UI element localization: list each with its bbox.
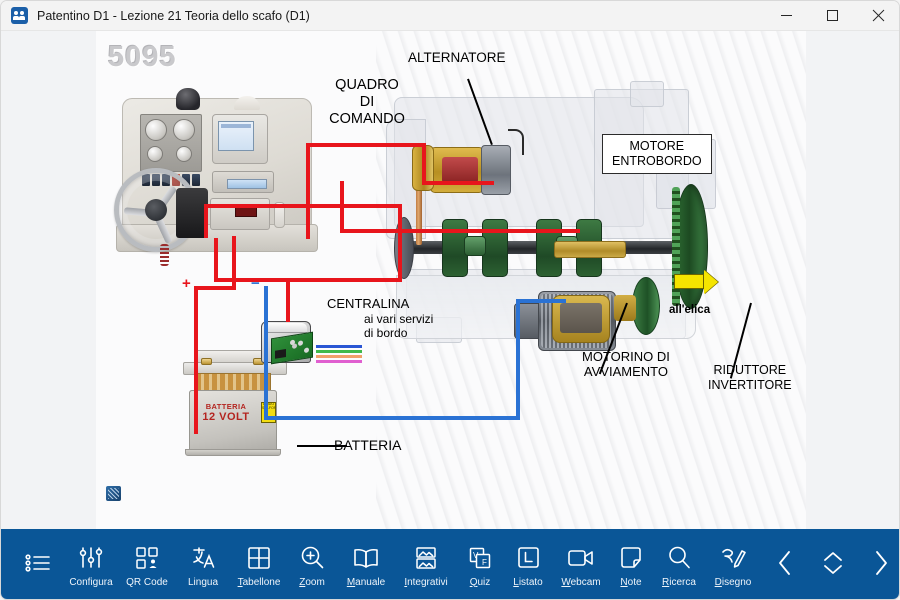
label-riduttore-invertitore: RIDUTTORE INVERTITORE: [708, 363, 792, 393]
label-alternatore: ALTERNATORE: [408, 50, 506, 66]
service-wire-blue: [316, 345, 362, 348]
images-icon: [415, 543, 437, 573]
qrcode-icon: [136, 543, 158, 573]
wire-positive-bus-v3: [204, 204, 208, 238]
wire-positive-to-console: [194, 286, 236, 290]
terminal-positive-sign: +: [182, 276, 191, 291]
battery-brand-label: BATTERIA: [195, 402, 257, 411]
wire-negative-battery-riser: [264, 286, 268, 420]
book-icon: [353, 543, 379, 573]
minimize-icon[interactable]: [763, 1, 809, 31]
propeller-direction-arrow-icon: [674, 274, 704, 289]
wire-negative-to-starter: [516, 299, 566, 303]
label-quadro-di-comando: QUADRO DI COMANDO: [322, 77, 412, 128]
quiz-label: Quiz: [470, 577, 491, 588]
window-controls: [763, 1, 900, 31]
manuale-button[interactable]: Manuale: [337, 535, 395, 595]
slide-diagram: 5095: [96, 31, 806, 529]
list-icon: [25, 548, 51, 578]
wire-positive-eng-v1: [340, 181, 344, 233]
disegno-button[interactable]: Disegno: [705, 535, 761, 595]
window-title: Patentino D1 - Lezione 21 Teoria dello s…: [37, 9, 310, 23]
label-batteria: BATTERIA: [334, 437, 401, 454]
wire-positive-eng-h1: [340, 229, 580, 233]
chevron-left-icon: [774, 548, 796, 578]
next-button[interactable]: [857, 535, 900, 595]
inboard-engine-illustration: [386, 79, 726, 369]
contacts-icon: [11, 7, 28, 24]
webcam-button[interactable]: Webcam: [553, 535, 609, 595]
wire-positive-alt-v1: [306, 143, 310, 239]
service-wire-magenta: [316, 360, 362, 363]
close-icon[interactable]: [855, 1, 900, 31]
wire-negative-riser-2: [516, 299, 520, 420]
listing-icon: [518, 543, 539, 573]
webcam-icon: [568, 543, 594, 573]
battery-face-text: BATTERIA 12 VOLT: [195, 402, 257, 425]
cards-icon: V F: [469, 543, 491, 573]
wire-negative-run: [264, 416, 520, 420]
wire-positive-alt-h2: [422, 181, 494, 185]
updown-button[interactable]: [809, 535, 857, 595]
quiz-button[interactable]: V F Quiz: [457, 535, 503, 595]
maximize-icon[interactable]: [809, 1, 855, 31]
label-motore-entrobordo: MOTORE ENTROBORDO: [602, 134, 712, 174]
battery-voltage-label: 12 VOLT: [195, 411, 257, 425]
lesson-content-area: 5095: [1, 31, 900, 529]
zoom-label: Zoom: [299, 577, 325, 588]
zoom-button[interactable]: Zoom: [287, 535, 337, 595]
integrativi-label: Integrativi: [404, 577, 447, 588]
previous-button[interactable]: [761, 535, 809, 595]
tabellone-button[interactable]: Tabellone: [231, 535, 287, 595]
grid-icon: [248, 543, 270, 573]
application-window: Patentino D1 - Lezione 21 Teoria dello s…: [0, 0, 900, 600]
service-wire-orange: [316, 355, 362, 358]
label-centralina: CENTRALINA: [327, 296, 409, 311]
wire-positive-bus-h1: [214, 278, 402, 282]
ricerca-button[interactable]: Ricerca: [653, 535, 705, 595]
service-wire-green: [316, 350, 362, 353]
note-icon: [621, 543, 641, 573]
note-button[interactable]: Note: [609, 535, 653, 595]
wire-positive-battery-riser: [194, 286, 198, 434]
wire-positive-alt-v2: [422, 143, 426, 185]
chevron-right-icon: [870, 548, 892, 578]
qrcode-button[interactable]: QR Code: [119, 535, 175, 595]
manuale-label: Manuale: [347, 577, 385, 588]
chevron-updown-icon: [821, 548, 845, 578]
flywheel-part: [674, 184, 708, 309]
listato-label: Listato: [513, 577, 542, 588]
webcam-label: Webcam: [561, 577, 600, 588]
compass-icon: [176, 88, 200, 110]
disegno-label: Disegno: [715, 577, 752, 588]
configura-label: Configura: [69, 577, 112, 588]
draw-icon: [721, 543, 745, 573]
label-servizi-di-bordo: ai vari servizi di bordo: [364, 312, 433, 340]
wire-positive-to-ecu: [286, 278, 290, 322]
wire-positive-bus-h2: [204, 204, 402, 208]
svg-text:V: V: [473, 551, 479, 560]
lingua-label: Lingua: [188, 577, 218, 588]
ecu-illustration: [261, 321, 319, 367]
label-allelica: all'elica: [669, 304, 710, 318]
wire-positive-bus-v1: [214, 238, 218, 282]
control-console-illustration: [114, 76, 329, 261]
ricerca-label: Ricerca: [662, 577, 696, 588]
label-motorino-avviamento: MOTORINO DI AVVIAMENTO: [582, 349, 670, 380]
search-icon: [668, 543, 691, 573]
publisher-logo-icon: [106, 486, 121, 501]
sliders-icon: [79, 543, 103, 573]
lesson-slide[interactable]: 5095: [96, 31, 806, 529]
lingua-button[interactable]: Lingua: [175, 535, 231, 595]
slide-number: 5095: [108, 41, 177, 74]
note-label: Note: [620, 577, 641, 588]
translate-icon: [191, 543, 215, 573]
integrativi-button[interactable]: Integrativi: [395, 535, 457, 595]
zoom-in-icon: [301, 543, 324, 573]
configura-button[interactable]: Configura: [63, 535, 119, 595]
tabellone-label: Tabellone: [238, 577, 281, 588]
wire-positive-alt-h1: [306, 143, 426, 147]
qrcode-label: QR Code: [126, 577, 168, 588]
menu-button[interactable]: [13, 535, 63, 595]
title-bar: Patentino D1 - Lezione 21 Teoria dello s…: [1, 1, 900, 31]
listato-button[interactable]: Listato: [503, 535, 553, 595]
svg-text:F: F: [482, 558, 487, 567]
reducer-gear-part: [632, 277, 660, 335]
wire-positive-bus-v2: [398, 204, 402, 282]
terminal-negative-sign: −: [251, 276, 260, 291]
bottom-toolbar: Configura QR Code Lingua: [1, 529, 900, 600]
